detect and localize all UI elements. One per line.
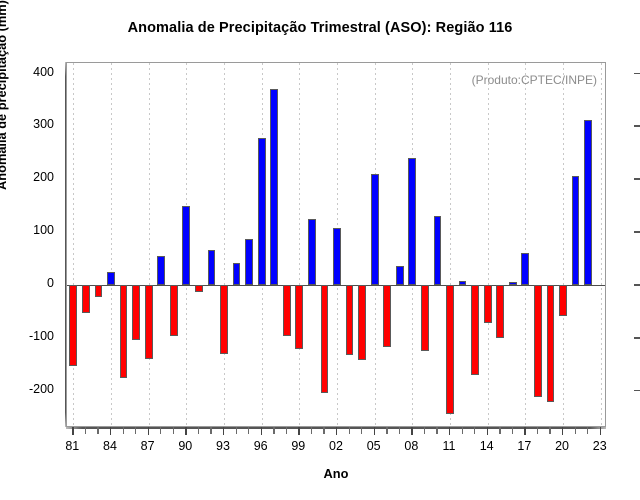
bar: [258, 138, 266, 285]
gridline: [563, 63, 564, 426]
bar: [383, 285, 391, 346]
bar: [484, 285, 492, 323]
x-axis-tick: [399, 427, 400, 434]
x-axis-tick: [311, 427, 312, 434]
y-axis-tick-label: 300: [33, 117, 54, 131]
bar: [584, 120, 592, 286]
bar: [69, 285, 77, 365]
x-axis-tick: [449, 427, 450, 435]
x-axis-title: Ano: [66, 466, 606, 481]
y-axis-tick-label: -200: [29, 382, 54, 396]
y-axis-tick-label: 200: [33, 170, 54, 184]
x-axis-tick: [562, 427, 563, 435]
x-axis-tick: [411, 427, 412, 435]
x-axis-tick-label: 14: [480, 439, 494, 453]
x-axis-tick-label: 11: [443, 439, 456, 453]
x-axis-tick: [210, 427, 211, 434]
bar: [208, 250, 216, 285]
y-axis-tick-label: -100: [29, 329, 54, 343]
bar: [396, 266, 404, 285]
bar: [559, 285, 567, 316]
bar: [220, 285, 228, 354]
x-axis-tick: [436, 427, 437, 434]
x-axis-tick: [374, 427, 375, 435]
x-axis-tick: [323, 427, 324, 434]
x-axis: 818487909396990205081114172023: [66, 427, 606, 439]
x-axis-tick-label: 23: [593, 439, 607, 453]
bar: [283, 285, 291, 336]
y-axis-tick: [634, 231, 640, 233]
x-axis-tick-label: 05: [367, 439, 381, 453]
y-axis-tick-label: 100: [33, 223, 54, 237]
x-axis-tick: [524, 427, 525, 435]
bar: [471, 285, 479, 375]
gridline: [488, 63, 489, 426]
x-axis-tick: [349, 427, 350, 434]
x-axis-tick: [148, 427, 149, 435]
bar: [321, 285, 329, 392]
bar: [295, 285, 303, 348]
x-axis-tick-label: 96: [254, 439, 268, 453]
x-axis-tick: [85, 427, 86, 434]
x-axis-tick-label: 99: [291, 439, 305, 453]
bar: [421, 285, 429, 351]
x-axis-tick-label: 90: [178, 439, 192, 453]
y-axis-tick-label: 400: [33, 65, 54, 79]
bar: [95, 285, 103, 297]
x-axis-tick: [160, 427, 161, 434]
gridline: [299, 63, 300, 426]
y-axis-title: Anomalia de precipitação (mm): [0, 0, 9, 245]
gridline: [149, 63, 150, 426]
x-axis-tick: [286, 427, 287, 434]
x-axis-tick: [223, 427, 224, 435]
x-axis-tick: [273, 427, 274, 434]
x-axis-tick: [173, 427, 174, 434]
bar: [572, 176, 580, 285]
x-axis-tick: [123, 427, 124, 434]
x-axis-tick: [298, 427, 299, 435]
x-axis-tick-label: 87: [141, 439, 155, 453]
bar: [308, 219, 316, 286]
x-axis-tick: [198, 427, 199, 434]
bar: [182, 206, 190, 285]
bar: [408, 158, 416, 285]
x-axis-tick: [261, 427, 262, 435]
x-axis-tick: [487, 427, 488, 435]
x-axis-tick: [386, 427, 387, 434]
bar: [233, 263, 241, 285]
x-axis-tick: [361, 427, 362, 434]
plot-area: (Produto:CPTEC/INPE): [66, 62, 606, 427]
bar: [157, 256, 165, 285]
x-axis-tick-label: 93: [216, 439, 230, 453]
x-axis-tick-label: 84: [103, 439, 117, 453]
x-axis-tick: [424, 427, 425, 434]
bar: [195, 285, 203, 292]
bar: [107, 272, 115, 285]
bar: [82, 285, 90, 313]
bar: [534, 285, 542, 397]
x-axis-tick: [549, 427, 550, 434]
y-axis-tick: [634, 178, 640, 180]
page-title: Anomalia de Precipitação Trimestral (ASO…: [0, 20, 640, 36]
x-axis-tick-label: 02: [329, 439, 343, 453]
bar: [245, 239, 253, 285]
x-axis-tick-label: 81: [65, 439, 79, 453]
x-axis-tick-label: 20: [555, 439, 569, 453]
bar: [145, 285, 153, 359]
x-axis-tick: [97, 427, 98, 434]
gridline: [224, 63, 225, 426]
bar: [547, 285, 555, 401]
bar: [132, 285, 140, 339]
bar: [509, 282, 517, 285]
y-axis-tick-label: 0: [47, 276, 54, 290]
y-axis-tick: [634, 73, 640, 75]
x-axis-tick: [474, 427, 475, 434]
bar: [459, 281, 467, 285]
x-axis-tick: [537, 427, 538, 434]
bar: [358, 285, 366, 360]
bar: [371, 174, 379, 285]
x-axis-tick: [336, 427, 337, 435]
bar: [333, 228, 341, 285]
y-axis-tick: [634, 390, 640, 392]
x-axis-tick-label: 08: [404, 439, 418, 453]
bar: [120, 285, 128, 378]
x-axis-tick: [110, 427, 111, 435]
bar: [270, 89, 278, 285]
x-axis-tick: [248, 427, 249, 434]
bar: [496, 285, 504, 338]
x-axis-tick: [185, 427, 186, 435]
x-axis-tick: [575, 427, 576, 434]
chart-page: Anomalia de Precipitação Trimestral (ASO…: [0, 0, 640, 500]
x-axis-tick: [512, 427, 513, 434]
bar: [521, 253, 529, 285]
x-axis-tick: [236, 427, 237, 434]
y-axis-tick: [634, 125, 640, 127]
bar: [446, 285, 454, 414]
x-axis-tick: [462, 427, 463, 434]
gridline: [525, 63, 526, 426]
bar: [434, 216, 442, 285]
x-axis-tick-label: 17: [517, 439, 531, 453]
plot-inner: [67, 63, 605, 426]
bar: [170, 285, 178, 336]
x-axis-tick: [72, 427, 73, 435]
gridline: [601, 63, 602, 426]
x-axis-tick: [499, 427, 500, 434]
x-axis-tick: [135, 427, 136, 434]
source-annotation: (Produto:CPTEC/INPE): [472, 73, 597, 87]
y-axis-tick: [634, 337, 640, 339]
x-axis-tick: [587, 427, 588, 434]
gridline: [111, 63, 112, 426]
gridline: [73, 63, 74, 426]
y-axis-tick: [634, 284, 640, 286]
bar: [346, 285, 354, 355]
x-axis-tick: [600, 427, 601, 435]
